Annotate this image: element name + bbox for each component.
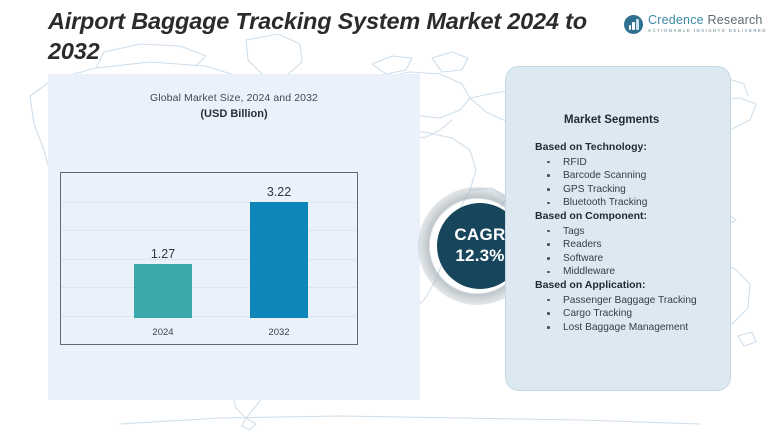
bullet-icon: [547, 326, 550, 329]
segment-item-label: Cargo Tracking: [563, 308, 632, 319]
bullet-icon: [547, 202, 550, 205]
segment-item-label: Bluetooth Tracking: [563, 197, 647, 208]
segment-item: Barcode Scanning: [535, 169, 721, 183]
bullet-icon: [547, 299, 550, 302]
segment-group-list: TagsReadersSoftwareMiddleware: [535, 225, 721, 279]
bar-value-label: 1.27: [151, 247, 175, 261]
bullet-icon: [547, 230, 550, 233]
segment-item: Passenger Baggage Tracking: [535, 294, 721, 308]
segment-group-heading: Based on Component:: [535, 210, 721, 224]
market-segments-title: Market Segments: [564, 114, 659, 126]
market-segments-body: Based on Technology:RFIDBarcode Scanning…: [535, 141, 721, 334]
logo-tagline: Actionable Insights Delivered: [648, 29, 767, 33]
bar-value-label: 3.22: [267, 185, 291, 199]
bullet-icon: [547, 257, 550, 260]
segment-item: Readers: [535, 238, 721, 252]
segment-item: RFID: [535, 156, 721, 170]
bullet-icon: [547, 174, 550, 177]
bar-2032: [250, 202, 308, 318]
bar-category-label: 2024: [152, 327, 173, 338]
bullet-icon: [547, 312, 550, 315]
logo-name: Credence Research: [648, 14, 767, 27]
page-title: Airport Baggage Tracking System Market 2…: [48, 6, 628, 66]
bar-2024: [134, 264, 192, 318]
bullet-icon: [547, 243, 550, 246]
segment-item: Software: [535, 252, 721, 266]
cagr-label: CAGR: [454, 226, 505, 245]
bar-chart-circle-logo-icon: [624, 15, 643, 34]
chart-bars: 1.2720243.222032: [61, 173, 357, 344]
bar-column: 1.27: [134, 264, 192, 318]
bullet-icon: [547, 271, 550, 274]
segment-item-label: Barcode Scanning: [563, 170, 646, 181]
segment-group-list: Passenger Baggage TrackingCargo Tracking…: [535, 294, 721, 335]
segment-item: GPS Tracking: [535, 183, 721, 197]
segment-item-label: Lost Baggage Management: [563, 322, 688, 333]
cagr-value: 12.3%: [455, 246, 504, 266]
segment-group-list: RFIDBarcode ScanningGPS TrackingBluetoot…: [535, 156, 721, 210]
logo-name-rest: Research: [704, 13, 763, 27]
segment-item: Bluetooth Tracking: [535, 196, 721, 210]
segment-group-heading: Based on Technology:: [535, 141, 721, 155]
logo-name-bold: Credence: [648, 13, 704, 27]
chart-subtitle: (USD Billion): [48, 108, 420, 120]
bar-category-label: 2032: [268, 327, 289, 338]
infographic-canvas: Airport Baggage Tracking System Market 2…: [0, 0, 768, 432]
segment-item: Lost Baggage Management: [535, 321, 721, 335]
bullet-icon: [547, 161, 550, 164]
segment-item: Middleware: [535, 265, 721, 279]
segment-item-label: Readers: [563, 239, 602, 250]
segment-item-label: Middleware: [563, 266, 615, 277]
segment-item-label: Passenger Baggage Tracking: [563, 295, 697, 306]
segment-item-label: Tags: [563, 226, 585, 237]
bar-chart-plot-area: 1.2720243.222032: [60, 172, 358, 345]
brand-logo: Credence Research Actionable Insights De…: [624, 14, 764, 42]
segment-item-label: Software: [563, 253, 603, 264]
segment-item: Tags: [535, 225, 721, 239]
segment-item-label: RFID: [563, 157, 587, 168]
segment-item-label: GPS Tracking: [563, 184, 626, 195]
segment-item: Cargo Tracking: [535, 307, 721, 321]
bullet-icon: [547, 188, 550, 191]
chart-title: Global Market Size, 2024 and 2032: [48, 92, 420, 104]
bar-column: 3.22: [250, 202, 308, 318]
segment-group-heading: Based on Application:: [535, 279, 721, 293]
